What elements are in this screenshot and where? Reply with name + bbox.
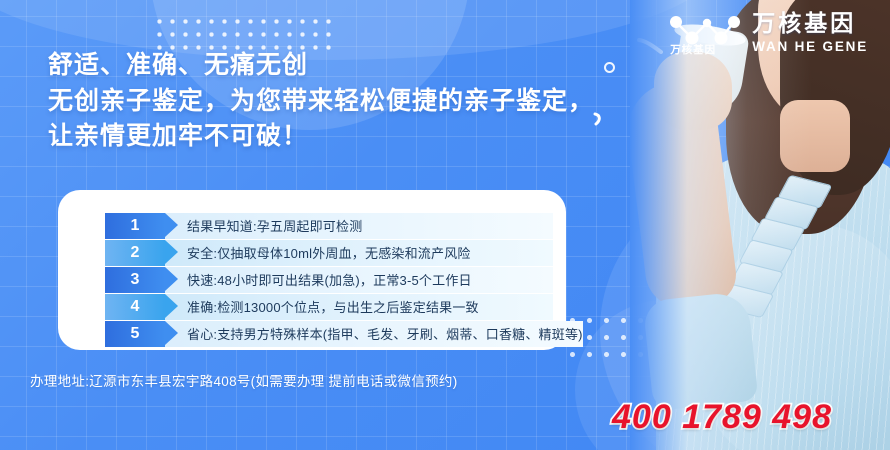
feature-row: 5 省心:支持男方特殊样本(指甲、毛发、牙刷、烟蒂、口香糖、精斑等) bbox=[105, 321, 553, 347]
photo-edge-fade bbox=[630, 0, 890, 450]
headline-line-1: 舒适、准确、无痛无创 bbox=[48, 48, 594, 84]
logo-wordmark: 万核基因 WAN HE GENE bbox=[752, 12, 868, 54]
feature-number-badge: 4 bbox=[105, 294, 165, 320]
feature-number-badge: 1 bbox=[105, 213, 165, 239]
brand-logo[interactable]: 万核基因 万核基因 WAN HE GENE bbox=[666, 10, 868, 56]
office-address: 办理地址:辽源市东丰县宏宇路408号(如需要办理 提前电话或微信预约) bbox=[30, 370, 458, 390]
feature-row: 1 结果早知道:孕五周起即可检测 bbox=[105, 213, 553, 239]
feature-number-badge: 5 bbox=[105, 321, 165, 347]
advertisement-banner: 万核基因 万核基因 WAN HE GENE 舒适、准确、无痛无创 无创亲子鉴定，… bbox=[0, 0, 890, 450]
feature-row: 2 安全:仅抽取母体10ml外周血，无感染和流产风险 bbox=[105, 240, 553, 266]
feature-number-badge: 2 bbox=[105, 240, 165, 266]
molecule-icon: 万核基因 bbox=[666, 10, 742, 56]
feature-row: 4 准确:检测13000个位点，与出生之后鉴定结果一致 bbox=[105, 294, 553, 320]
headline-line-3: 让亲情更加牢不可破！ bbox=[48, 119, 594, 155]
logo-name-cn: 万核基因 bbox=[752, 12, 868, 35]
feature-card: 1 结果早知道:孕五周起即可检测 2 安全:仅抽取母体10ml外周血，无感染和流… bbox=[58, 190, 566, 350]
feature-number-badge: 3 bbox=[105, 267, 165, 293]
feature-text: 安全:仅抽取母体10ml外周血，无感染和流产风险 bbox=[165, 240, 553, 266]
feature-list: 1 结果早知道:孕五周起即可检测 2 安全:仅抽取母体10ml外周血，无感染和流… bbox=[105, 213, 553, 348]
feature-text: 结果早知道:孕五周起即可检测 bbox=[165, 213, 553, 239]
circle-outline-decoration bbox=[604, 62, 615, 73]
hotline-phone-number[interactable]: 400 1789 498 bbox=[612, 398, 832, 437]
feature-text: 准确:检测13000个位点，与出生之后鉴定结果一致 bbox=[165, 294, 553, 320]
feature-text: 快速:48小时即可出结果(加急)，正常3-5个工作日 bbox=[165, 267, 553, 293]
pregnant-woman-photo bbox=[630, 0, 890, 450]
logo-mark-label: 万核基因 bbox=[670, 42, 716, 57]
feature-row: 3 快速:48小时即可出结果(加急)，正常3-5个工作日 bbox=[105, 267, 553, 293]
headline-block: 舒适、准确、无痛无创 无创亲子鉴定，为您带来轻松便捷的亲子鉴定， 让亲情更加牢不… bbox=[48, 48, 594, 155]
headline-line-2: 无创亲子鉴定，为您带来轻松便捷的亲子鉴定， bbox=[48, 84, 594, 120]
feature-text: 省心:支持男方特殊样本(指甲、毛发、牙刷、烟蒂、口香糖、精斑等) bbox=[165, 321, 583, 347]
logo-name-en: WAN HE GENE bbox=[752, 40, 868, 54]
